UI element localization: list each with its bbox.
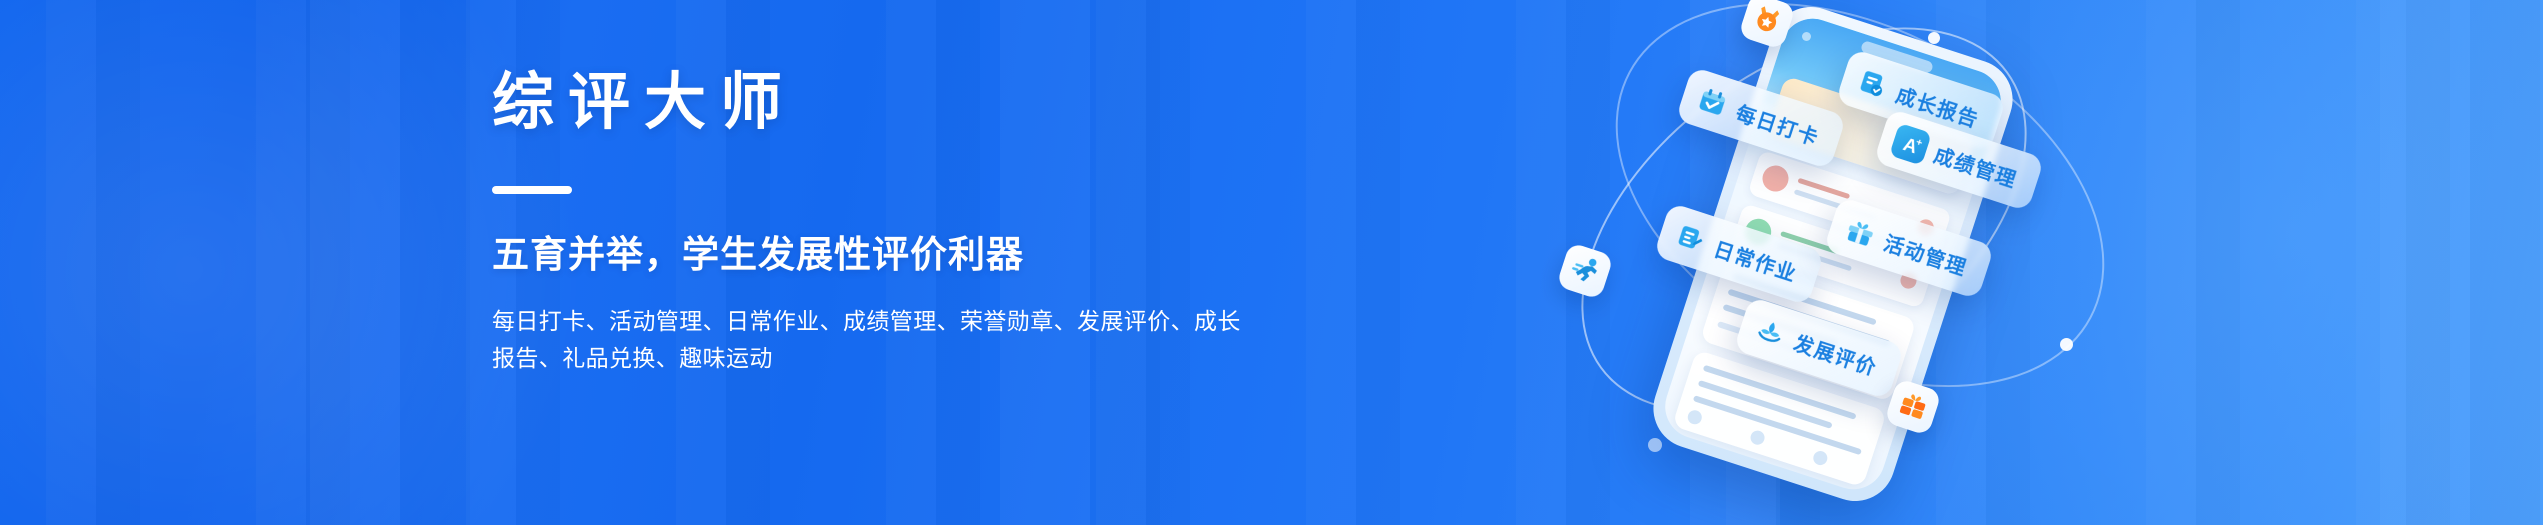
title-divider	[492, 186, 572, 194]
hero-illustration: 成长报告 每日打卡 A + 成绩管理	[1540, 0, 2160, 525]
feature-card-label: 成绩管理	[1931, 138, 2022, 192]
gift-box-icon	[1893, 386, 1932, 429]
phone-action-icon	[1749, 429, 1767, 447]
description-line-2: 报告、礼品兑换、趣味运动	[492, 340, 1052, 377]
phone-action-icon	[1686, 408, 1704, 426]
page-title: 综评大师	[492, 72, 1442, 134]
feature-card-label: 发展评价	[1791, 326, 1882, 380]
decor-dot	[1928, 32, 1940, 44]
feature-card-label: 每日打卡	[1733, 96, 1824, 150]
decor-dot	[2060, 338, 2073, 351]
grade-a-plus-icon: A +	[1889, 123, 1932, 166]
banner-subtitle: 五育并举，学生发展性评价利器	[492, 234, 1442, 277]
report-icon	[1851, 63, 1894, 106]
decor-dot	[1802, 32, 1811, 41]
homework-book-icon	[1669, 217, 1712, 260]
lotus-flower-icon	[1749, 311, 1792, 354]
gift-icon	[1839, 211, 1882, 254]
medal-icon	[1747, 0, 1786, 42]
banner-root: 综评大师 五育并举，学生发展性评价利器 每日打卡、活动管理、日常作业、成绩管理、…	[0, 0, 2543, 525]
banner-description: 每日打卡、活动管理、日常作业、成绩管理、荣誉勋章、发展评价、成长 报告、礼品兑换…	[492, 303, 1052, 378]
running-person-icon	[1565, 250, 1604, 293]
floating-icon-fun-sports[interactable]	[1556, 242, 1614, 300]
phone-row-avatar	[1759, 162, 1792, 195]
description-line-1: 每日打卡、活动管理、日常作业、成绩管理、荣誉勋章、发展评价、成长	[492, 303, 1052, 340]
banner-copy: 综评大师 五育并举，学生发展性评价利器 每日打卡、活动管理、日常作业、成绩管理、…	[492, 72, 1442, 377]
calendar-check-icon	[1691, 81, 1734, 124]
feature-card-label: 活动管理	[1881, 226, 1972, 280]
decor-dot	[1648, 438, 1662, 452]
phone-text-line	[1693, 395, 1862, 455]
feature-card-label: 日常作业	[1711, 232, 1802, 286]
phone-action-icon	[1811, 449, 1829, 467]
